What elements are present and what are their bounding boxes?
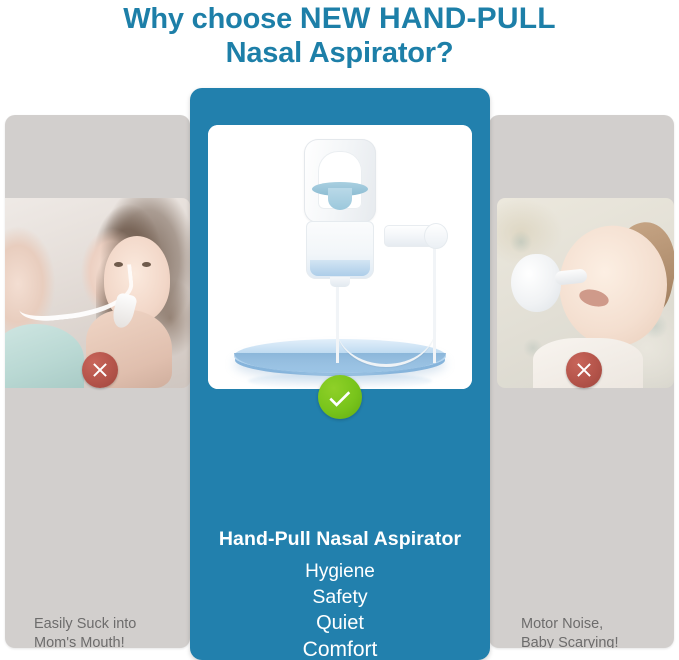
aspirator-pull-wing-inner <box>328 188 352 210</box>
product-name: Hand-Pull Nasal Aspirator <box>190 528 490 551</box>
aspirator-hose-left-leg <box>336 285 339 363</box>
title-line-1: Why choose NEW HAND-PULL <box>0 2 679 37</box>
product-scene <box>208 125 472 389</box>
aspirator-chamber-neck <box>330 277 350 287</box>
benefit-item: Quiet <box>190 610 490 636</box>
title-line-2: Nasal Aspirator? <box>0 37 679 71</box>
page-title: Why choose NEW HAND-PULL Nasal Aspirator… <box>0 0 679 70</box>
infographic-page: Why choose NEW HAND-PULL Nasal Aspirator… <box>0 0 679 660</box>
left-caption-1: Easily Suck into Mom's Mouth! <box>34 615 190 648</box>
bulb-syringe <box>511 254 561 312</box>
check-icon <box>318 375 362 419</box>
cross-icon-left <box>82 352 118 388</box>
right-caption-1: Motor Noise, Baby Scarying! <box>521 615 673 648</box>
benefit-item: Comfort <box>190 636 490 660</box>
aspirator-chamber-fill <box>310 260 370 276</box>
mother-shoulder <box>5 324 84 388</box>
title-highlight: NEW HAND-PULL <box>300 2 556 35</box>
benefit-item: Hygiene <box>190 560 490 585</box>
cross-icon-right <box>566 352 602 388</box>
aspirator-hose-right-leg <box>433 245 436 363</box>
benefit-list: Hygiene Safety Quiet Comfort Waterproof … <box>190 560 490 660</box>
title-prefix: Why choose <box>123 3 300 35</box>
aspirator-nozzle-cap <box>424 223 448 249</box>
benefit-item: Safety <box>190 585 490 610</box>
aspirator-hose <box>336 285 436 367</box>
featured-product-panel: Hand-Pull Nasal Aspirator Hygiene Safety… <box>190 88 490 660</box>
child-eye-right <box>142 262 151 267</box>
product-image-card <box>208 125 472 389</box>
